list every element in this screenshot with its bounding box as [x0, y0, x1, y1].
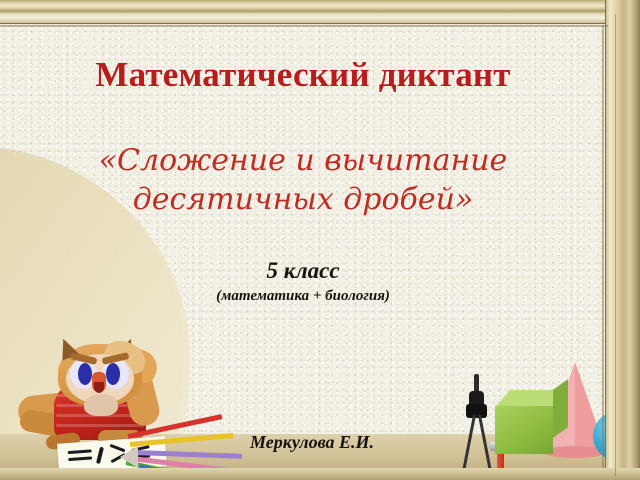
course-label: (математика + биология): [0, 284, 606, 305]
presentation-slide: Математический диктант «Сложение и вычит…: [0, 0, 640, 480]
frame-right-pinstripe-outer: [615, 14, 616, 476]
author-name: Меркулова Е.И.: [250, 432, 374, 453]
green-cube-shape: [495, 406, 553, 454]
frame-right-border: [605, 0, 640, 480]
blue-sphere-shape: [593, 410, 640, 462]
slide-title: Математический диктант: [0, 26, 606, 95]
geometry-compass-icon: [455, 374, 499, 466]
geometric-solids-illustration: [455, 360, 605, 470]
slide-subtitle: «Сложение и вычитание десятичных дробей»: [0, 95, 606, 220]
grade-label: 5 класс: [0, 220, 606, 284]
slide-subtitle-line-1: «Сложение и вычитание: [0, 141, 606, 181]
slide-text-block: Математический диктант «Сложение и вычит…: [0, 26, 606, 305]
frame-top-border: [0, 0, 640, 24]
slide-subtitle-line-2: десятичных дробей»: [0, 180, 606, 220]
